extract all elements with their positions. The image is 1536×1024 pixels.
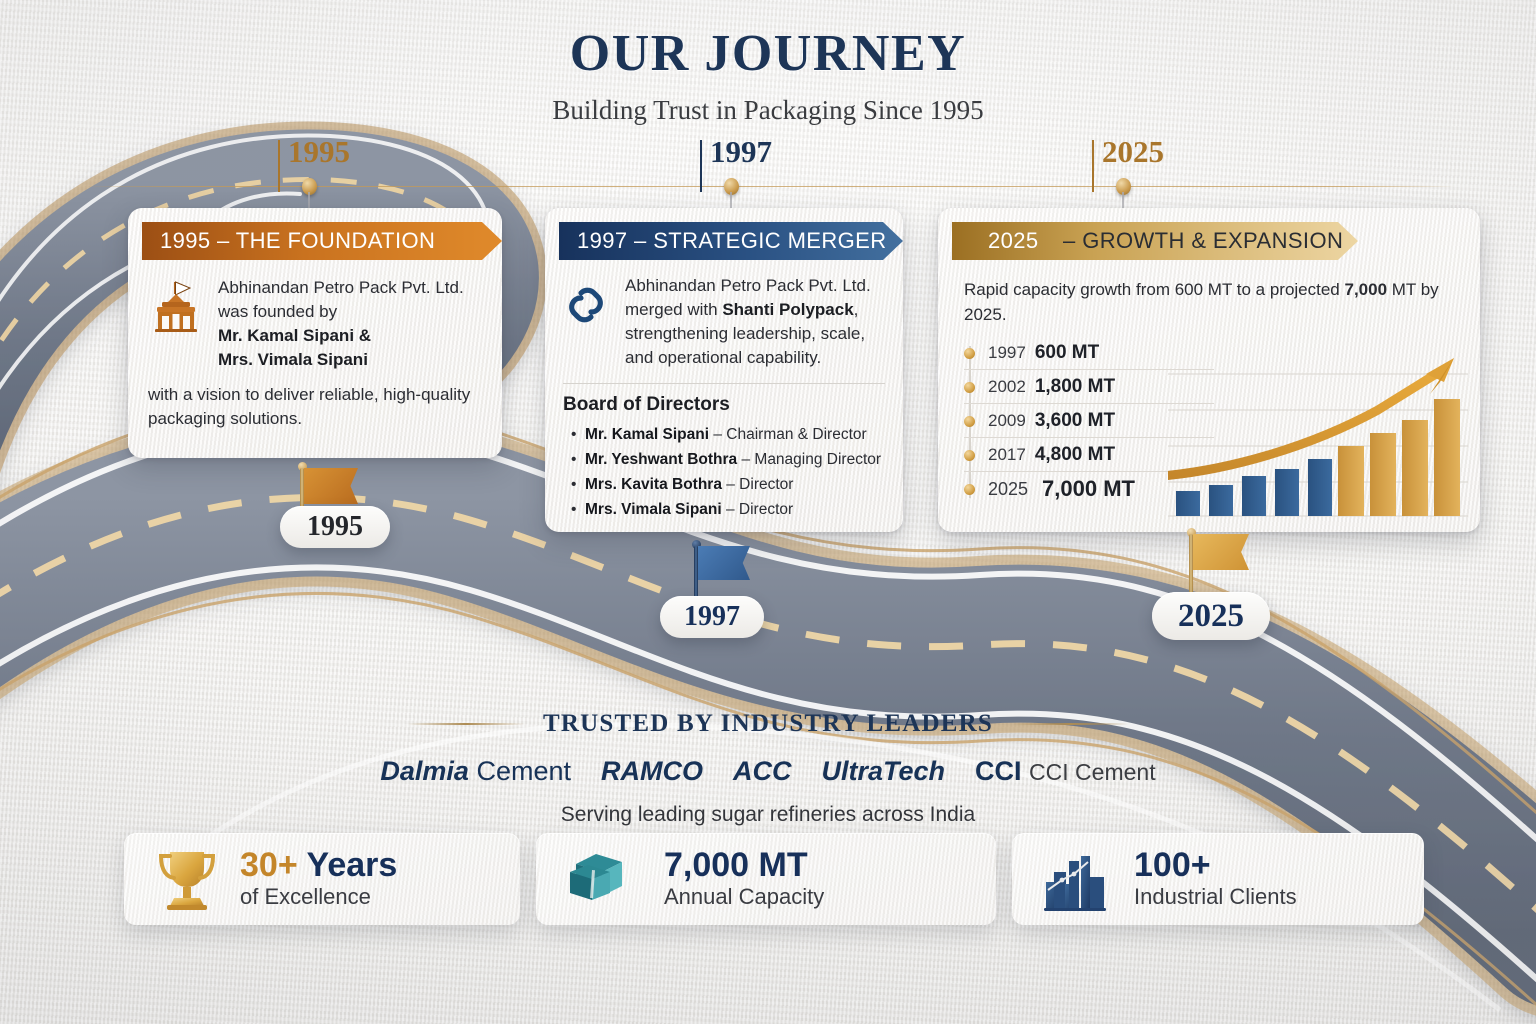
factory-chart-icon [1038, 844, 1118, 914]
stat-value-row: 30+ Years [240, 848, 397, 884]
timeline-stem [1092, 140, 1094, 192]
timeline-rail [80, 186, 1456, 187]
ribbon-rest: – GROWTH & EXPANSION [1039, 228, 1344, 253]
card-growth-2025[interactable]: 2025 – GROWTH & EXPANSION Rapid capacity… [938, 208, 1480, 532]
card-ribbon-merger: 1997 – STRATEGIC MERGER [559, 222, 903, 260]
stat-text: 30+ Years of Excellence [240, 848, 397, 911]
foundation-founder-2: Mrs. Vimala Sipani [218, 350, 368, 369]
chart-bars [1176, 399, 1460, 516]
brand-strong: CCI [975, 756, 1022, 786]
road-pill-1997[interactable]: 1997 [660, 596, 764, 638]
card-ribbon-growth: 2025 – GROWTH & EXPANSION [952, 222, 1358, 260]
timeline-year-label: 1995 [288, 134, 350, 170]
flag-cloth [698, 546, 750, 580]
merger-partner: Shanti Polypack [722, 300, 853, 319]
stat-label: of Excellence [240, 884, 397, 910]
ribbon-label: 1997 – STRATEGIC MERGER [559, 228, 887, 254]
brand-strong: Dalmia [380, 756, 469, 786]
stat-label: Annual Capacity [664, 884, 824, 910]
ribbon-label: 1995 – THE FOUNDATION [142, 228, 435, 254]
brand-light: Cement [476, 756, 571, 786]
ribbon-year: 2025 [970, 228, 1039, 253]
brand-ramco: RAMCO [601, 756, 703, 787]
foundation-paragraph-2: with a vision to deliver reliable, high-… [128, 373, 502, 431]
director-role: – Director [722, 476, 794, 493]
timeline-year-label: 1997 [710, 134, 772, 170]
capacity-bullet [964, 484, 975, 495]
trophy-icon [150, 844, 224, 914]
stat-card-clients[interactable]: 100+ Industrial Clients [1012, 833, 1424, 925]
stat-value: 7,000 MT [664, 848, 824, 884]
stat-value-suffix: Years [307, 846, 398, 884]
stat-text: 100+ Industrial Clients [1134, 848, 1297, 911]
road-pill-label: 1995 [307, 511, 363, 543]
stat-value: 30+ [240, 846, 298, 884]
rule-right [1011, 723, 1129, 725]
capacity-bullet [964, 382, 975, 393]
link-icon [561, 280, 611, 330]
page-title: OUR JOURNEY [0, 24, 1536, 83]
stat-card-capacity[interactable]: 7,000 MT Annual Capacity [536, 833, 996, 925]
board-heading: Board of Directors [545, 384, 903, 416]
trusted-note: Serving leading sugar refineries across … [0, 803, 1536, 827]
brand-acc: ACC [733, 756, 792, 787]
stat-label: Industrial Clients [1134, 884, 1297, 910]
stat-value: 100+ [1134, 848, 1297, 884]
capacity-year: 2002 [988, 377, 1026, 397]
flag-cloth [1193, 534, 1249, 570]
page-subtitle: Building Trust in Packaging Since 1995 [0, 95, 1536, 126]
road-pill-2025[interactable]: 2025 [1152, 592, 1270, 640]
director-name: Mr. Yeshwant Bothra [585, 451, 737, 468]
director-role: – Director [722, 501, 794, 518]
capacity-value: 1,800 MT [1035, 376, 1115, 398]
capacity-bullet [964, 416, 975, 427]
brand-ultratech: UltraTech [822, 756, 946, 787]
list-item: Mrs. Kavita Bothra – Director [571, 472, 893, 497]
brand-cci: CCI CCI Cement [975, 756, 1156, 787]
list-item: Mr. Kamal Sipani – Chairman & Director [571, 422, 893, 447]
capacity-bullet [964, 450, 975, 461]
boxes-icon [562, 844, 648, 914]
capacity-value: 4,800 MT [1035, 444, 1115, 466]
capacity-year: 2009 [988, 411, 1026, 431]
director-role: – Chairman & Director [709, 426, 867, 443]
card-ribbon-foundation: 1995 – THE FOUNDATION [142, 222, 502, 260]
card-foundation-1995[interactable]: 1995 – THE FOUNDATION Abhinandan Petro P… [128, 208, 502, 458]
capacity-year: 2025 [988, 479, 1028, 500]
director-name: Mr. Kamal Sipani [585, 426, 709, 443]
growth-bar-chart [1168, 352, 1468, 524]
foundation-founder-1: Mr. Kamal Sipani & [218, 326, 371, 345]
capacity-year: 1997 [988, 343, 1026, 363]
ribbon-label: 2025 – GROWTH & EXPANSION [952, 228, 1343, 254]
brand-light: CCI Cement [1029, 759, 1156, 785]
merger-paragraph: Abhinandan Petro Pack Pvt. Ltd. merged w… [625, 274, 885, 371]
list-item: Mrs. Vimala Sipani – Director [571, 497, 893, 522]
list-item: Mr. Yeshwant Bothra – Managing Director [571, 447, 893, 472]
timeline-year-label: 2025 [1102, 134, 1164, 170]
road-pill-label: 1997 [684, 601, 740, 633]
capacity-value: 7,000 MT [1042, 476, 1135, 502]
growth-lead-bold: 7,000 [1344, 280, 1387, 299]
building-icon [148, 280, 204, 332]
rule-left [407, 723, 525, 725]
foundation-text-1: Abhinandan Petro Pack Pvt. Ltd. was foun… [218, 278, 464, 321]
brand-dalmia: Dalmia Cement [380, 756, 571, 787]
road-pill-label: 2025 [1178, 598, 1244, 635]
director-name: Mrs. Kavita Bothra [585, 476, 722, 493]
foundation-paragraph: Abhinandan Petro Pack Pvt. Ltd. was foun… [218, 276, 482, 373]
trusted-heading: TRUSTED BY INDUSTRY LEADERS [543, 710, 993, 738]
stat-text: 7,000 MT Annual Capacity [664, 848, 824, 911]
trusted-heading-row: TRUSTED BY INDUSTRY LEADERS [0, 710, 1536, 738]
capacity-value: 3,600 MT [1035, 410, 1115, 432]
card-merger-1997[interactable]: 1997 – STRATEGIC MERGER Abhinandan Petro… [545, 208, 903, 532]
stat-card-years[interactable]: 30+ Years of Excellence [124, 833, 520, 925]
director-name: Mrs. Vimala Sipani [585, 501, 722, 518]
capacity-value: 600 MT [1035, 342, 1099, 364]
capacity-bullet [964, 348, 975, 359]
road-pill-1995[interactable]: 1995 [280, 506, 390, 548]
director-role: – Managing Director [737, 451, 881, 468]
capacity-year: 2017 [988, 445, 1026, 465]
board-list: Mr. Kamal Sipani – Chairman & Director M… [545, 416, 903, 522]
timeline-stem [700, 140, 702, 192]
growth-lead-before: Rapid capacity growth from 600 MT to a p… [964, 280, 1344, 299]
brand-logos: Dalmia Cement RAMCO ACC UltraTech CCI CC… [0, 756, 1536, 787]
flag-cloth [304, 468, 358, 504]
infographic-canvas: OUR JOURNEY Building Trust in Packaging … [0, 0, 1536, 1024]
timeline-stem [278, 140, 280, 192]
trusted-section: TRUSTED BY INDUSTRY LEADERS Dalmia Cemen… [0, 710, 1536, 827]
page-header: OUR JOURNEY Building Trust in Packaging … [0, 24, 1536, 126]
growth-lead: Rapid capacity growth from 600 MT to a p… [938, 260, 1480, 327]
